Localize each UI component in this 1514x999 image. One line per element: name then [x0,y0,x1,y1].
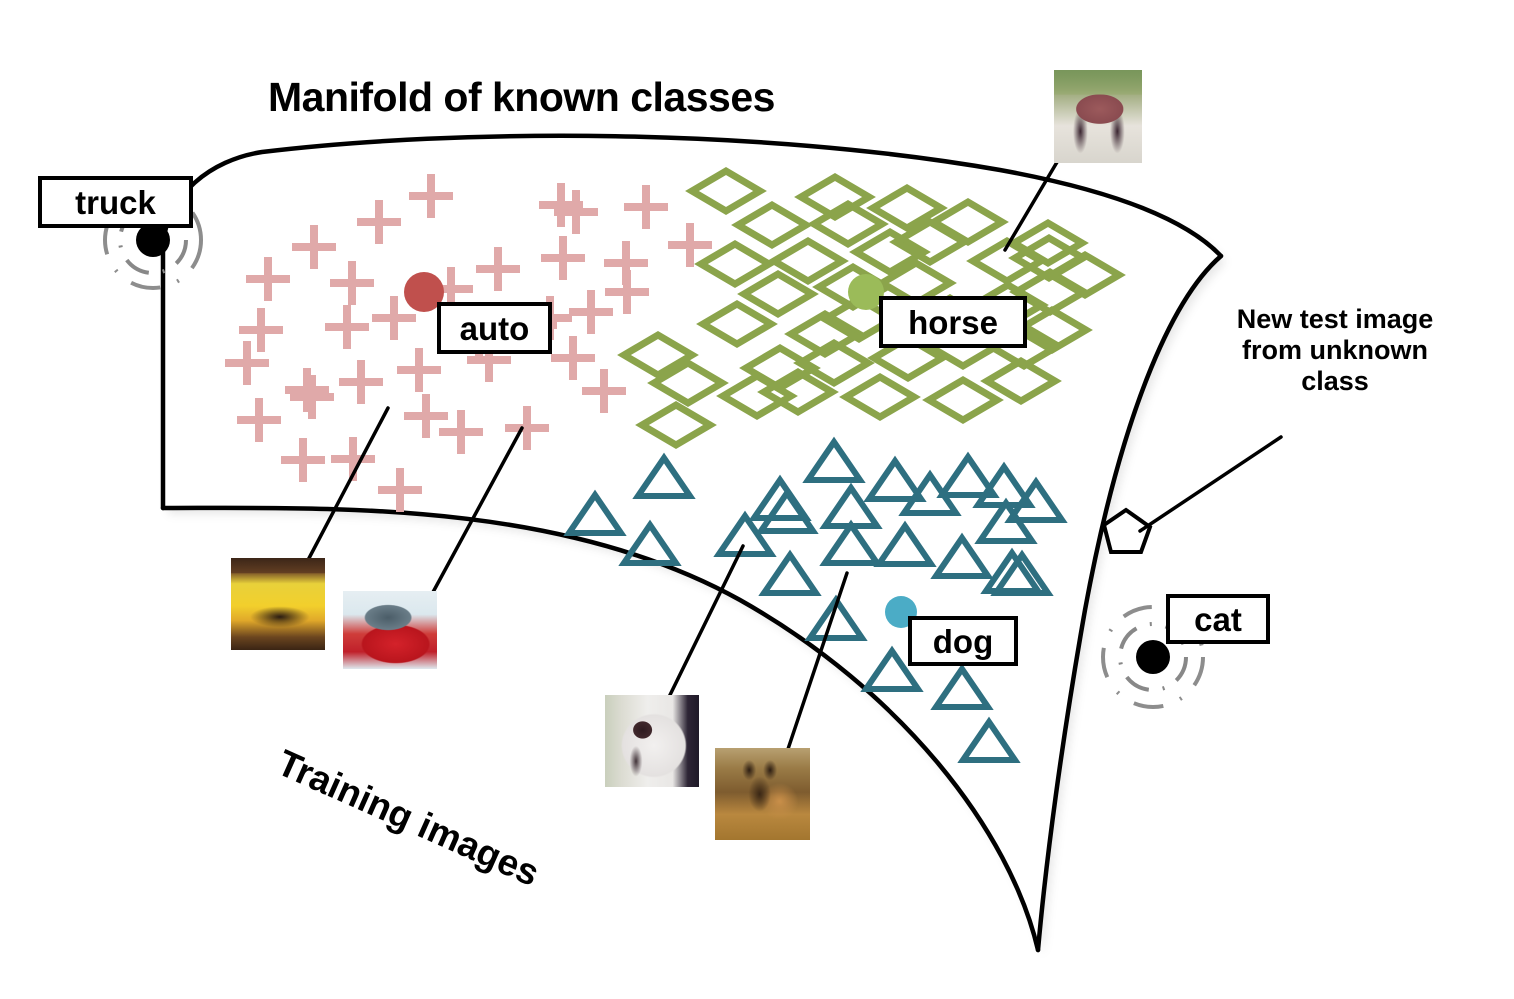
class-label-auto[interactable]: auto [437,302,552,354]
unknown-class-annotation: New test image from unknown class [1190,304,1480,397]
figure-canvas: Manifold of known classes New test image… [0,0,1514,999]
truck-centroid-dot [136,223,170,257]
class-label-cat[interactable]: cat [1166,594,1270,644]
red-car-thumbnail [343,591,437,669]
white-dog-thumbnail [605,695,699,787]
german-shepherd-thumbnail [715,748,810,840]
class-label-truck[interactable]: truck [38,176,193,228]
class-label-dog[interactable]: dog [908,616,1018,666]
cat-thumbnail [1279,390,1371,482]
horse-thumbnail [1054,70,1142,163]
diagram-svg [0,0,1514,999]
page-title: Manifold of known classes [268,74,775,121]
yellow-car-thumbnail [231,558,325,650]
leader-line-cat [1140,437,1281,531]
class-label-horse[interactable]: horse [879,296,1027,348]
cat-centroid-dot [1136,640,1170,674]
